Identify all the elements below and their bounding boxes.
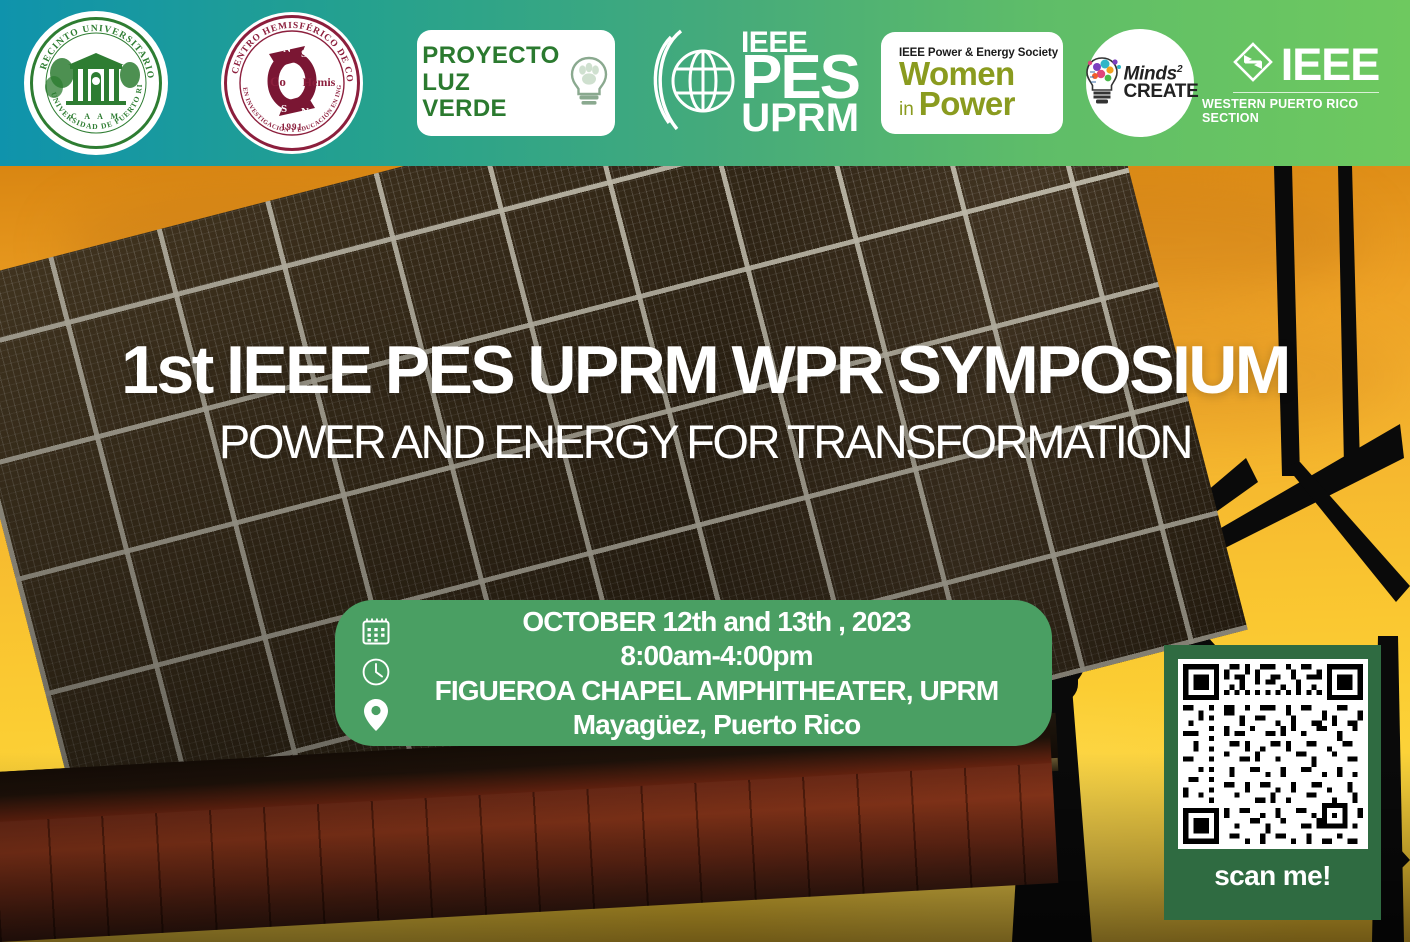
svg-text:N: N	[283, 43, 291, 55]
svg-text:1991: 1991	[281, 122, 303, 132]
minds-superscript: 2	[1177, 64, 1182, 75]
ieee-wordmark: IEEE	[1281, 42, 1380, 87]
qr-code-image[interactable]	[1178, 659, 1368, 849]
event-date: OCTOBER 12th and 13th , 2023	[522, 606, 910, 637]
event-detail-lines: OCTOBER 12th and 13th , 2023 8:00am-4:00…	[403, 606, 1036, 740]
clock-icon	[361, 657, 391, 687]
sponsor-ieee-pes-uprm: IEEE PES UPRM	[640, 0, 866, 166]
colorful-lightbulb-icon	[1082, 54, 1122, 113]
pes-uprm-label: UPRM	[741, 102, 859, 136]
event-city: Mayagüez, Puerto Rico	[573, 709, 861, 740]
pes-globe-icon	[647, 25, 739, 142]
sponsor-ieee-wpr-section: IEEE WESTERN PUERTO RICO SECTION	[1202, 0, 1410, 166]
qr-code-panel[interactable]: scan me!	[1164, 645, 1381, 920]
svg-text:N: N	[301, 106, 309, 118]
event-venue: FIGUEROA CHAPEL AMPHITHEATER, UPRM	[435, 675, 999, 706]
create-word: CREATE	[1124, 83, 1199, 100]
luz-verde-line2: LUZ VERDE	[422, 70, 559, 124]
sponsor-minds-create: Minds2 CREATE	[1078, 0, 1202, 166]
sponsor-women-in-power: IEEE Power & Energy Society Women in Pow…	[866, 0, 1078, 166]
wip-in-label: in	[899, 101, 914, 118]
ieee-diamond-icon	[1233, 42, 1273, 87]
svg-text:Co: Co	[270, 74, 286, 89]
qr-caption: scan me!	[1214, 860, 1331, 892]
sponsor-uprm-seal: RECINTO UNIVERSITARIO DE MAYAGÜEZ UNIVER…	[0, 0, 192, 166]
event-poster: RECINTO UNIVERSITARIO DE MAYAGÜEZ UNIVER…	[0, 0, 1410, 942]
svg-text:S: S	[281, 103, 287, 115]
sponsor-logo-band: RECINTO UNIVERSITARIO DE MAYAGÜEZ UNIVER…	[0, 0, 1410, 166]
svg-text:S: S	[301, 48, 307, 60]
sponsor-proyecto-luz-verde: PROYECTO LUZ VERDE	[392, 0, 640, 166]
event-details-card: OCTOBER 12th and 13th , 2023 8:00am-4:00…	[335, 600, 1052, 746]
location-pin-icon	[363, 698, 389, 732]
luz-verde-line1: PROYECTO	[422, 43, 559, 70]
ieee-divider	[1233, 92, 1379, 93]
lightbulb-paw-icon	[568, 55, 610, 112]
sponsor-cohemis-seal: CENTRO HEMISFÉRICO DE COOPERACIÓN EN INV…	[192, 0, 392, 166]
calendar-icon	[361, 616, 391, 646]
event-time: 8:00am-4:00pm	[620, 640, 812, 671]
svg-text:Hemis: Hemis	[303, 75, 336, 89]
svg-text:C A A M: C A A M	[71, 112, 121, 121]
wip-power-label: Power	[919, 89, 1015, 119]
event-detail-icons	[349, 614, 403, 732]
ieee-section-label: WESTERN PUERTO RICO SECTION	[1202, 97, 1410, 125]
luz-verde-wordmark: PROYECTO LUZ VERDE	[422, 43, 559, 124]
